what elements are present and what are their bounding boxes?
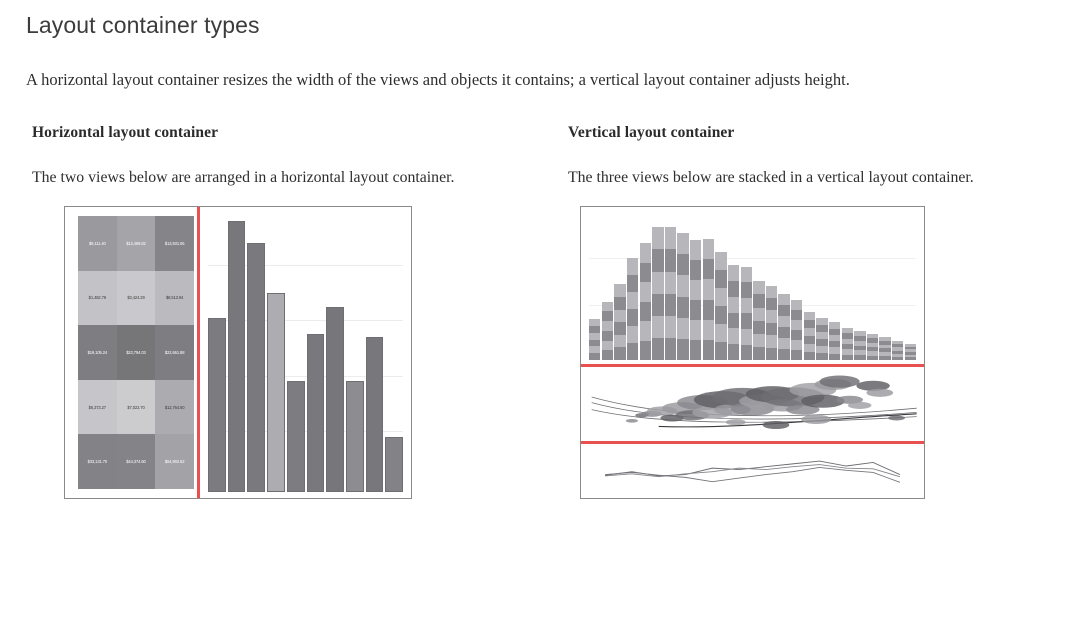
histogram-segment xyxy=(766,298,777,310)
line-chart-canvas xyxy=(585,446,920,494)
column-horizontal: Horizontal layout container The two view… xyxy=(26,124,554,499)
histogram-segment xyxy=(627,326,638,343)
vertical-layout-container-dashboard[interactable] xyxy=(580,206,925,499)
histogram-segment xyxy=(614,310,625,323)
histogram-segment xyxy=(728,313,739,329)
histogram-segment xyxy=(766,310,777,322)
bar[interactable] xyxy=(287,381,305,492)
histogram-segment xyxy=(602,302,613,312)
histogram-segment xyxy=(741,267,752,283)
heatmap-cell[interactable]: $22,794.03 xyxy=(117,325,156,380)
bar[interactable] xyxy=(326,307,344,493)
histogram-bar[interactable] xyxy=(766,286,777,360)
histogram-segment xyxy=(791,330,802,340)
heatmap-cell[interactable]: $64,902.62 xyxy=(155,434,194,489)
histogram-segment xyxy=(614,335,625,348)
histogram-bar[interactable] xyxy=(879,337,890,360)
histogram-segment xyxy=(703,239,714,259)
histogram-bar[interactable] xyxy=(854,331,865,360)
page-title: Layout container types xyxy=(26,12,1055,40)
histogram-segment xyxy=(778,349,789,360)
histogram-segment xyxy=(690,240,701,260)
histogram-segment xyxy=(804,336,815,344)
histogram-bar[interactable] xyxy=(665,227,676,360)
histogram-segment xyxy=(677,318,688,339)
histogram-segment xyxy=(665,227,676,249)
heatmap-cell[interactable]: $22,661.88 xyxy=(155,325,194,380)
histogram-segment xyxy=(589,353,600,360)
description-vertical-layout-container: The three views below are stacked in a v… xyxy=(568,164,1068,192)
histogram-segment xyxy=(778,316,789,327)
histogram-segment xyxy=(614,284,625,297)
histogram-segment xyxy=(677,339,688,360)
bar-chart-bars xyxy=(208,215,403,492)
histogram-segment xyxy=(741,282,752,298)
histogram-segment xyxy=(640,263,651,282)
histogram-segment xyxy=(602,331,613,341)
histogram-segment xyxy=(652,338,663,360)
histogram-segment xyxy=(640,321,651,340)
histogram-segment xyxy=(741,329,752,345)
histogram-segment xyxy=(614,347,625,360)
histogram-segment xyxy=(879,356,890,360)
histogram-segment xyxy=(791,320,802,330)
histogram-segment xyxy=(715,342,726,360)
histogram-bar[interactable] xyxy=(728,265,739,360)
histogram-segment xyxy=(652,272,663,294)
histogram-segment xyxy=(715,270,726,288)
histogram-segment xyxy=(703,320,714,340)
histogram-bar[interactable] xyxy=(690,240,701,360)
histogram-segment xyxy=(753,308,764,321)
heatmap-cell[interactable]: $8,513.94 xyxy=(155,271,194,326)
histogram-segment xyxy=(816,346,827,353)
bubble-mark[interactable] xyxy=(801,415,831,424)
heatmap-cell[interactable]: $1,482.79 xyxy=(78,271,117,326)
histogram-segment xyxy=(640,341,651,360)
bubble-mark[interactable] xyxy=(820,376,860,388)
histogram-segment xyxy=(816,325,827,332)
histogram-bar[interactable] xyxy=(640,243,651,360)
heatmap-cell[interactable]: $6,373.27 xyxy=(78,380,117,435)
bar[interactable] xyxy=(346,381,364,492)
heading-vertical-layout-container: Vertical layout container xyxy=(568,124,1081,142)
histogram-bar[interactable] xyxy=(867,334,878,360)
histogram-bar[interactable] xyxy=(602,302,613,360)
histogram-segment xyxy=(728,328,739,344)
bar[interactable] xyxy=(366,337,384,492)
histogram-segment xyxy=(715,324,726,342)
heatmap-cell[interactable]: $13,931.06 xyxy=(155,216,194,271)
heatmap-cell[interactable]: $3,424.29 xyxy=(117,271,156,326)
histogram-segment xyxy=(665,249,676,271)
bubble-mark[interactable] xyxy=(626,419,638,423)
histogram-segment xyxy=(602,311,613,321)
histogram-segment xyxy=(753,334,764,347)
histogram-segment xyxy=(665,338,676,360)
histogram-bar[interactable] xyxy=(842,328,853,360)
histogram-segment xyxy=(589,340,600,347)
histogram-segment xyxy=(741,313,752,329)
histogram-segment xyxy=(778,338,789,349)
histogram-segment xyxy=(829,354,840,360)
bar[interactable] xyxy=(228,221,246,492)
page-intro-text: A horizontal layout container resizes th… xyxy=(26,66,1055,94)
heatmap-cell[interactable]: $7,022.70 xyxy=(117,380,156,435)
histogram-segment xyxy=(715,306,726,324)
histogram-segment xyxy=(627,258,638,275)
heatmap-cell[interactable]: $12,469.82 xyxy=(117,216,156,271)
histogram-segment xyxy=(715,252,726,270)
histogram-bar[interactable] xyxy=(703,239,714,360)
histogram-segment xyxy=(627,309,638,326)
histogram-segment xyxy=(766,348,777,360)
histogram-segment xyxy=(816,332,827,339)
histogram-segment xyxy=(665,272,676,294)
bar-chart-view[interactable] xyxy=(204,211,407,494)
heading-horizontal-layout-container: Horizontal layout container xyxy=(32,124,554,142)
histogram-segment xyxy=(690,260,701,280)
bar[interactable] xyxy=(307,334,325,492)
histogram-bar[interactable] xyxy=(816,318,827,360)
bar[interactable] xyxy=(267,293,285,492)
bubble-mark[interactable] xyxy=(866,389,893,397)
bubble-chart-view[interactable] xyxy=(585,369,920,439)
bubble-chart-canvas xyxy=(585,369,920,439)
histogram-segment xyxy=(778,327,789,338)
histogram-segment xyxy=(804,344,815,352)
container-vertical-divider[interactable] xyxy=(197,207,200,498)
histogram-segment xyxy=(652,227,663,249)
bubble-mark[interactable] xyxy=(848,402,871,409)
histogram-segment xyxy=(652,294,663,316)
histogram-segment xyxy=(690,320,701,340)
histogram-segment xyxy=(842,355,853,360)
histogram-segment xyxy=(715,288,726,306)
histogram-segment xyxy=(905,357,916,360)
histogram-bars xyxy=(589,214,916,360)
histogram-segment xyxy=(640,282,651,301)
histogram-bar[interactable] xyxy=(829,322,840,360)
histogram-segment xyxy=(804,320,815,328)
histogram-segment xyxy=(804,328,815,336)
line-chart-view[interactable] xyxy=(585,446,920,494)
histogram-segment xyxy=(892,357,903,360)
histogram-segment xyxy=(804,312,815,320)
histogram-segment xyxy=(602,341,613,351)
histogram-segment xyxy=(703,259,714,279)
columns-wrapper: Horizontal layout container The two view… xyxy=(26,124,1055,499)
histogram-segment xyxy=(677,297,688,318)
histogram-bar[interactable] xyxy=(614,284,625,360)
heatmap-cell[interactable]: $33,131.70 xyxy=(78,434,117,489)
histogram-segment xyxy=(741,345,752,361)
histogram-segment xyxy=(791,350,802,360)
heatmap-view[interactable]: $9,111.40$12,469.82$13,931.06$1,482.79$3… xyxy=(69,211,197,494)
histogram-segment xyxy=(589,319,600,326)
bubble-mark[interactable] xyxy=(888,416,905,421)
histogram-segment xyxy=(665,316,676,338)
histogram-segment xyxy=(627,343,638,360)
heatmap-cell[interactable]: $19,105.24 xyxy=(78,325,117,380)
histogram-segment xyxy=(867,356,878,360)
histogram-bar[interactable] xyxy=(715,252,726,360)
histogram-segment xyxy=(766,335,777,347)
histogram-segment xyxy=(652,249,663,271)
histogram-segment xyxy=(690,280,701,300)
histogram-segment xyxy=(690,300,701,320)
bubble-mark[interactable] xyxy=(763,421,790,429)
histogram-segment xyxy=(665,294,676,316)
histogram-segment xyxy=(816,318,827,325)
histogram-segment xyxy=(703,300,714,320)
histogram-bar[interactable] xyxy=(677,233,688,360)
histogram-segment xyxy=(703,279,714,299)
histogram-segment xyxy=(791,310,802,320)
bar[interactable] xyxy=(247,243,265,492)
histogram-segment xyxy=(728,297,739,313)
histogram-segment xyxy=(778,305,789,316)
page-root: Layout container types A horizontal layo… xyxy=(0,0,1081,499)
histogram-segment xyxy=(614,322,625,335)
histogram-bar[interactable] xyxy=(589,319,600,360)
histogram-segment xyxy=(766,286,777,298)
horizontal-layout-container-dashboard[interactable]: $9,111.40$12,469.82$13,931.06$1,482.79$3… xyxy=(64,206,412,499)
histogram-segment xyxy=(766,323,777,335)
histogram-segment xyxy=(589,333,600,340)
histogram-segment xyxy=(753,281,764,294)
histogram-segment xyxy=(677,254,688,275)
histogram-segment xyxy=(677,233,688,254)
histogram-segment xyxy=(690,340,701,360)
histogram-segment xyxy=(703,340,714,360)
column-vertical: Vertical layout container The three view… xyxy=(562,124,1081,499)
histogram-bar[interactable] xyxy=(741,267,752,360)
histogram-bar[interactable] xyxy=(804,312,815,360)
histogram-segment xyxy=(753,347,764,360)
histogram-segment xyxy=(602,350,613,360)
histogram-segment xyxy=(602,321,613,331)
histogram-segment xyxy=(728,265,739,281)
histogram-segment xyxy=(614,297,625,310)
histogram-segment xyxy=(652,316,663,338)
histogram-bar[interactable] xyxy=(892,341,903,360)
heatmap-cell[interactable]: $9,111.40 xyxy=(78,216,117,271)
histogram-segment xyxy=(778,294,789,305)
bubble-mark[interactable] xyxy=(726,419,746,425)
histogram-bar[interactable] xyxy=(753,281,764,360)
histogram-segment xyxy=(640,302,651,321)
histogram-segment xyxy=(640,243,651,262)
bar[interactable] xyxy=(385,437,403,492)
histogram-segment xyxy=(677,275,688,296)
histogram-bar[interactable] xyxy=(652,227,663,360)
container-horizontal-divider-top[interactable] xyxy=(581,364,924,367)
histogram-segment xyxy=(728,344,739,360)
histogram-segment xyxy=(854,355,865,360)
histogram-segment xyxy=(741,298,752,314)
histogram-view[interactable] xyxy=(585,211,920,362)
histogram-segment xyxy=(816,339,827,346)
histogram-segment xyxy=(728,281,739,297)
description-horizontal-layout-container: The two views below are arranged in a ho… xyxy=(32,164,532,192)
histogram-segment xyxy=(753,321,764,334)
histogram-bar[interactable] xyxy=(905,344,916,360)
heatmap-cell[interactable]: $44,374.60 xyxy=(117,434,156,489)
bar[interactable] xyxy=(208,318,226,493)
histogram-segment xyxy=(791,340,802,350)
histogram-segment xyxy=(816,353,827,360)
histogram-segment xyxy=(627,292,638,309)
container-horizontal-divider-bottom[interactable] xyxy=(581,441,924,444)
histogram-segment xyxy=(791,300,802,310)
histogram-bar[interactable] xyxy=(778,294,789,360)
histogram-segment xyxy=(627,275,638,292)
heatmap-cell[interactable]: $12,764.60 xyxy=(155,380,194,435)
histogram-bar[interactable] xyxy=(791,300,802,360)
histogram-segment xyxy=(753,294,764,307)
histogram-segment xyxy=(804,352,815,360)
histogram-segment xyxy=(589,326,600,333)
histogram-segment xyxy=(589,346,600,353)
histogram-bar[interactable] xyxy=(627,258,638,360)
heatmap-grid: $9,111.40$12,469.82$13,931.06$1,482.79$3… xyxy=(78,216,194,489)
